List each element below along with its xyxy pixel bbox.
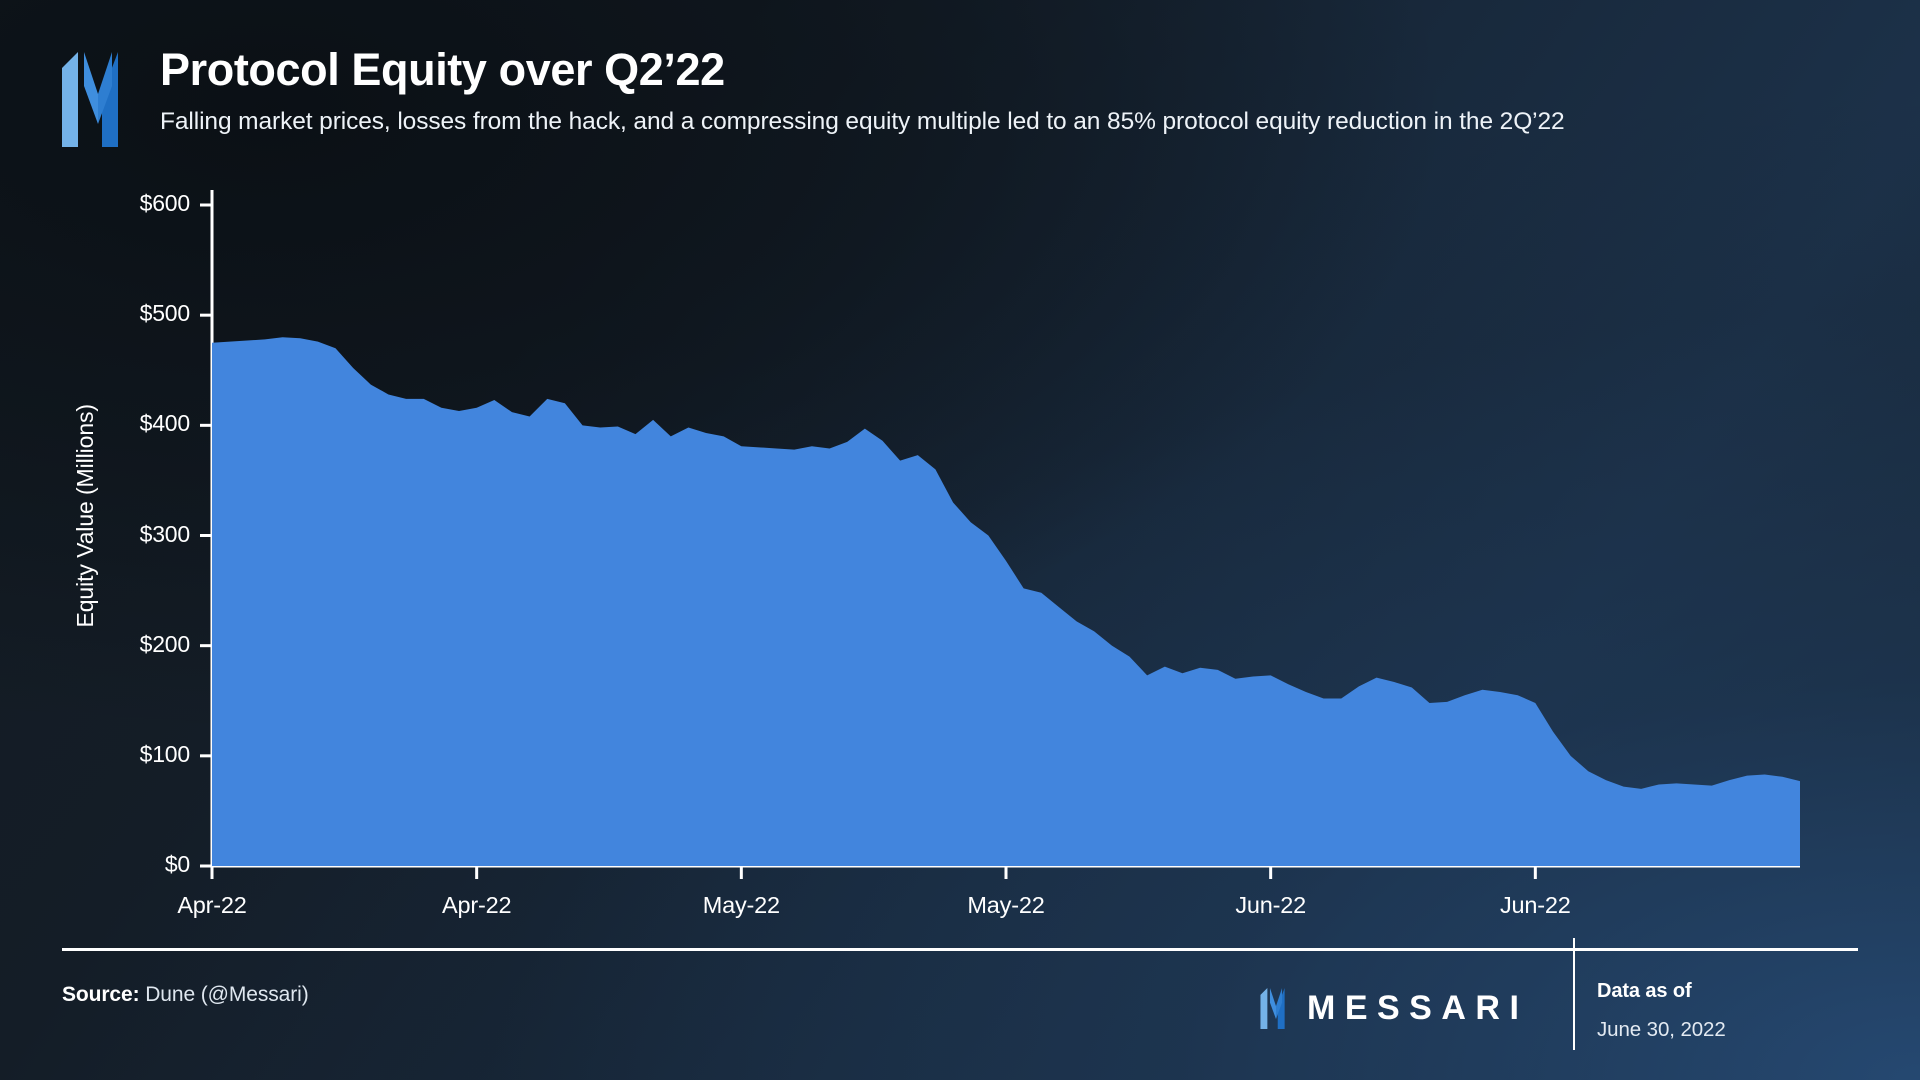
y-axis-tick-label: $400: [100, 410, 190, 437]
data-asof-label: Data as of: [1597, 980, 1726, 1003]
source-value: Dune (@Messari): [140, 983, 309, 1006]
y-axis-tick-label: $500: [100, 300, 190, 327]
header: Protocol Equity over Q2’22 Falling marke…: [62, 42, 1565, 147]
footer-vertical-divider: [1573, 938, 1575, 1050]
messari-brand: MESSARI: [1258, 988, 1528, 1029]
x-axis-tick-label: May-22: [916, 892, 1096, 919]
source-line: Source: Dune (@Messari): [62, 983, 309, 1007]
y-axis-title: Equity Value (Millions): [72, 404, 99, 628]
footer-divider-rule: [62, 948, 1858, 951]
source-label: Source:: [62, 983, 140, 1006]
x-axis-tick-label: May-22: [651, 892, 831, 919]
y-axis-tick-label: $200: [100, 631, 190, 658]
data-asof-block: Data as of June 30, 2022: [1597, 980, 1726, 1042]
page-subtitle: Falling market prices, losses from the h…: [160, 108, 1565, 136]
x-axis-tick-label: Jun-22: [1445, 892, 1625, 919]
messari-m-logo-icon: [62, 52, 134, 147]
y-axis-tick-label: $300: [100, 521, 190, 548]
y-axis-tick-label: $600: [100, 190, 190, 217]
brand-wordmark: MESSARI: [1307, 989, 1528, 1028]
x-axis-tick-label: Apr-22: [387, 892, 567, 919]
area-chart-svg: [0, 0, 1920, 1080]
y-axis-tick-label: $0: [100, 851, 190, 878]
infographic-page: Protocol Equity over Q2’22 Falling marke…: [0, 0, 1920, 1080]
x-axis-tick-label: Apr-22: [122, 892, 302, 919]
equity-area-series: [212, 337, 1800, 866]
y-axis-tick-label: $100: [100, 741, 190, 768]
messari-m-logo-icon: [1258, 988, 1294, 1029]
page-title: Protocol Equity over Q2’22: [160, 46, 1565, 95]
data-asof-value: June 30, 2022: [1597, 1018, 1726, 1042]
x-axis-tick-label: Jun-22: [1181, 892, 1361, 919]
header-text-block: Protocol Equity over Q2’22 Falling marke…: [160, 42, 1565, 136]
axis-group: [200, 190, 1800, 879]
chart-area: Equity Value (Millions) $0$100$200$300$4…: [0, 0, 1920, 1080]
